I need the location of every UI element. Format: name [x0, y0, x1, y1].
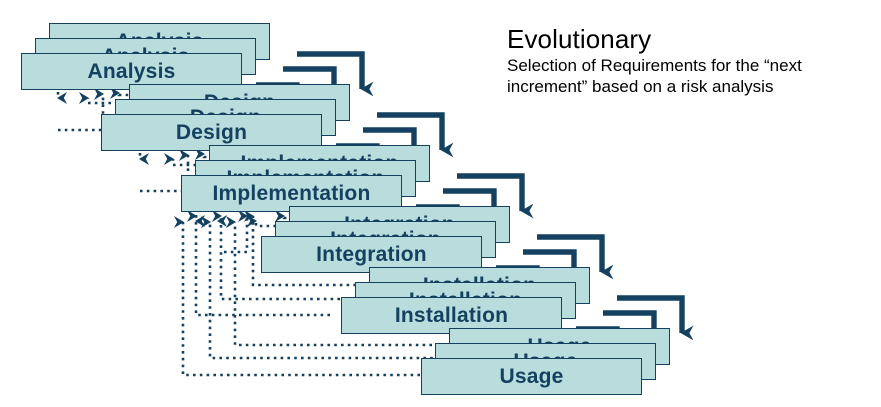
feedback-integration-impl-a [256, 221, 276, 226]
phase-label-implementation: Implementation [213, 183, 371, 204]
phase-label-integration: Integration [316, 244, 427, 265]
phase-label-design: Design [176, 122, 247, 143]
caption-heading: Evolutionary [507, 26, 857, 53]
feedback-design-analysis-a [88, 98, 111, 103]
diagram-canvas: AnalysisDesignImplementationIntegrationI… [0, 0, 881, 407]
caption-body: Selection of Requirements for the “next … [507, 56, 857, 97]
feedback-design-analysis-d [58, 94, 103, 130]
caption-block: Evolutionary Selection of Requirements f… [507, 26, 857, 98]
phase-label-installation: Installation [395, 305, 508, 326]
phase-label-analysis: Analysis [88, 61, 176, 82]
phase-box-usage-increment-1[interactable]: Usage [421, 358, 642, 395]
feedback-impl-design-a [173, 159, 196, 165]
phase-label-usage: Usage [499, 366, 563, 387]
